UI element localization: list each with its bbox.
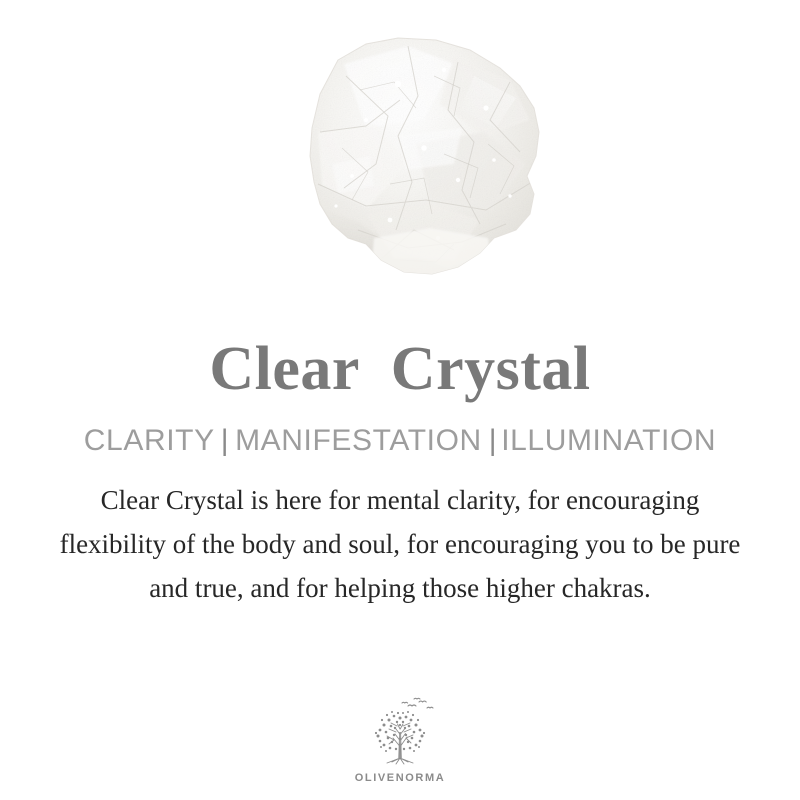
keyword-separator-1: | — [215, 424, 235, 457]
product-keywords: CLARITY|MANIFESTATION|ILLUMINATION — [84, 426, 716, 456]
keyword-manifestation: MANIFESTATION — [235, 424, 482, 457]
clear-crystal-image — [240, 10, 560, 310]
product-info-card: Clear Crystal CLARITY|MANIFESTATION|ILLU… — [0, 0, 800, 800]
page-title: Clear Crystal — [209, 338, 590, 400]
product-description: Clear Crystal is here for mental clarity… — [50, 478, 750, 610]
keyword-separator-2: | — [482, 424, 501, 457]
keyword-illumination: ILLUMINATION — [501, 424, 716, 457]
keyword-clarity: CLARITY — [84, 424, 215, 457]
tree-of-life-icon — [361, 696, 439, 770]
product-image-container — [0, 0, 800, 320]
brand-name: OLIVENORMA — [355, 772, 446, 784]
brand-logo: OLIVENORMA — [0, 696, 800, 784]
